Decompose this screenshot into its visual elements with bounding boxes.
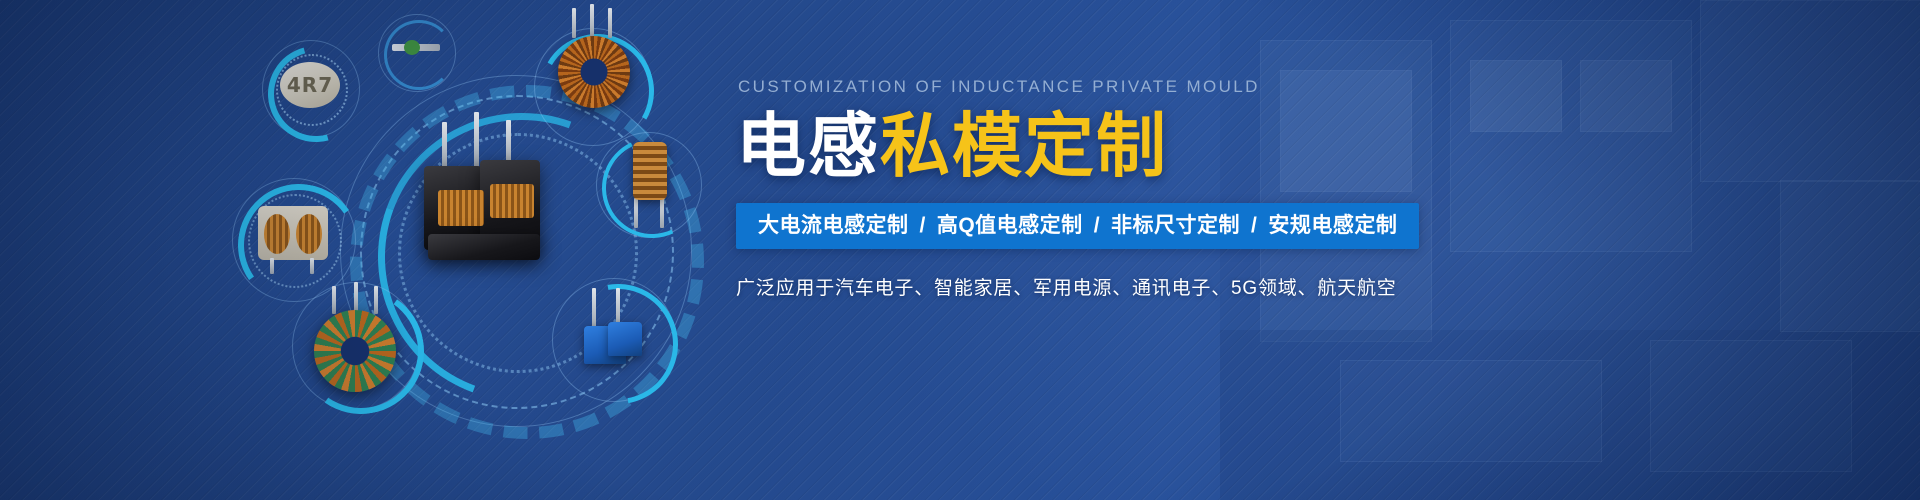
- tech-ring-large-ticks: [350, 85, 704, 439]
- feature-item-1: 高Q值电感定制: [937, 214, 1083, 237]
- product-blue-radial-inductor: [582, 288, 644, 388]
- product-flat-wire-inductor: [424, 160, 544, 260]
- headline-gold-part: 私模定制: [880, 105, 1168, 187]
- feature-separator-1: /: [1083, 214, 1111, 237]
- feature-item-3: 安规电感定制: [1268, 214, 1397, 237]
- smd-chip-marking: 4R7: [280, 62, 340, 108]
- tech-ring-small-top-arc: [384, 20, 454, 90]
- product-green-toroidal-inductor: [314, 292, 400, 388]
- product-toroidal-common-mode-choke: [556, 30, 636, 110]
- banner-text-block: CUSTOMIZATION OF INDUCTANCE PRIVATE MOUL…: [736, 78, 1436, 300]
- product-ferrite-core-transformer: [258, 198, 330, 272]
- feature-list: 大电流电感定制/高Q值电感定制/非标尺寸定制/安规电感定制: [758, 214, 1397, 237]
- feature-item-0: 大电流电感定制: [758, 214, 909, 237]
- english-subtitle: CUSTOMIZATION OF INDUCTANCE PRIVATE MOUL…: [738, 78, 1436, 95]
- product-axial-coil-inductor: [630, 142, 670, 228]
- promo-banner: 4R7: [0, 0, 1920, 500]
- application-description: 广泛应用于汽车电子、智能家居、军用电源、通讯电子、5G领域、航天航空: [736, 273, 1436, 300]
- feature-separator-2: /: [1240, 214, 1268, 237]
- feature-separator-0: /: [909, 214, 937, 237]
- feature-item-2: 非标尺寸定制: [1111, 214, 1240, 237]
- headline-white-part: 电感: [736, 105, 880, 187]
- product-smd-power-inductor: 4R7: [280, 62, 340, 108]
- page-title: 电感私模定制: [736, 111, 1436, 181]
- feature-pill-bar[interactable]: 大电流电感定制/高Q值电感定制/非标尺寸定制/安规电感定制: [736, 203, 1419, 249]
